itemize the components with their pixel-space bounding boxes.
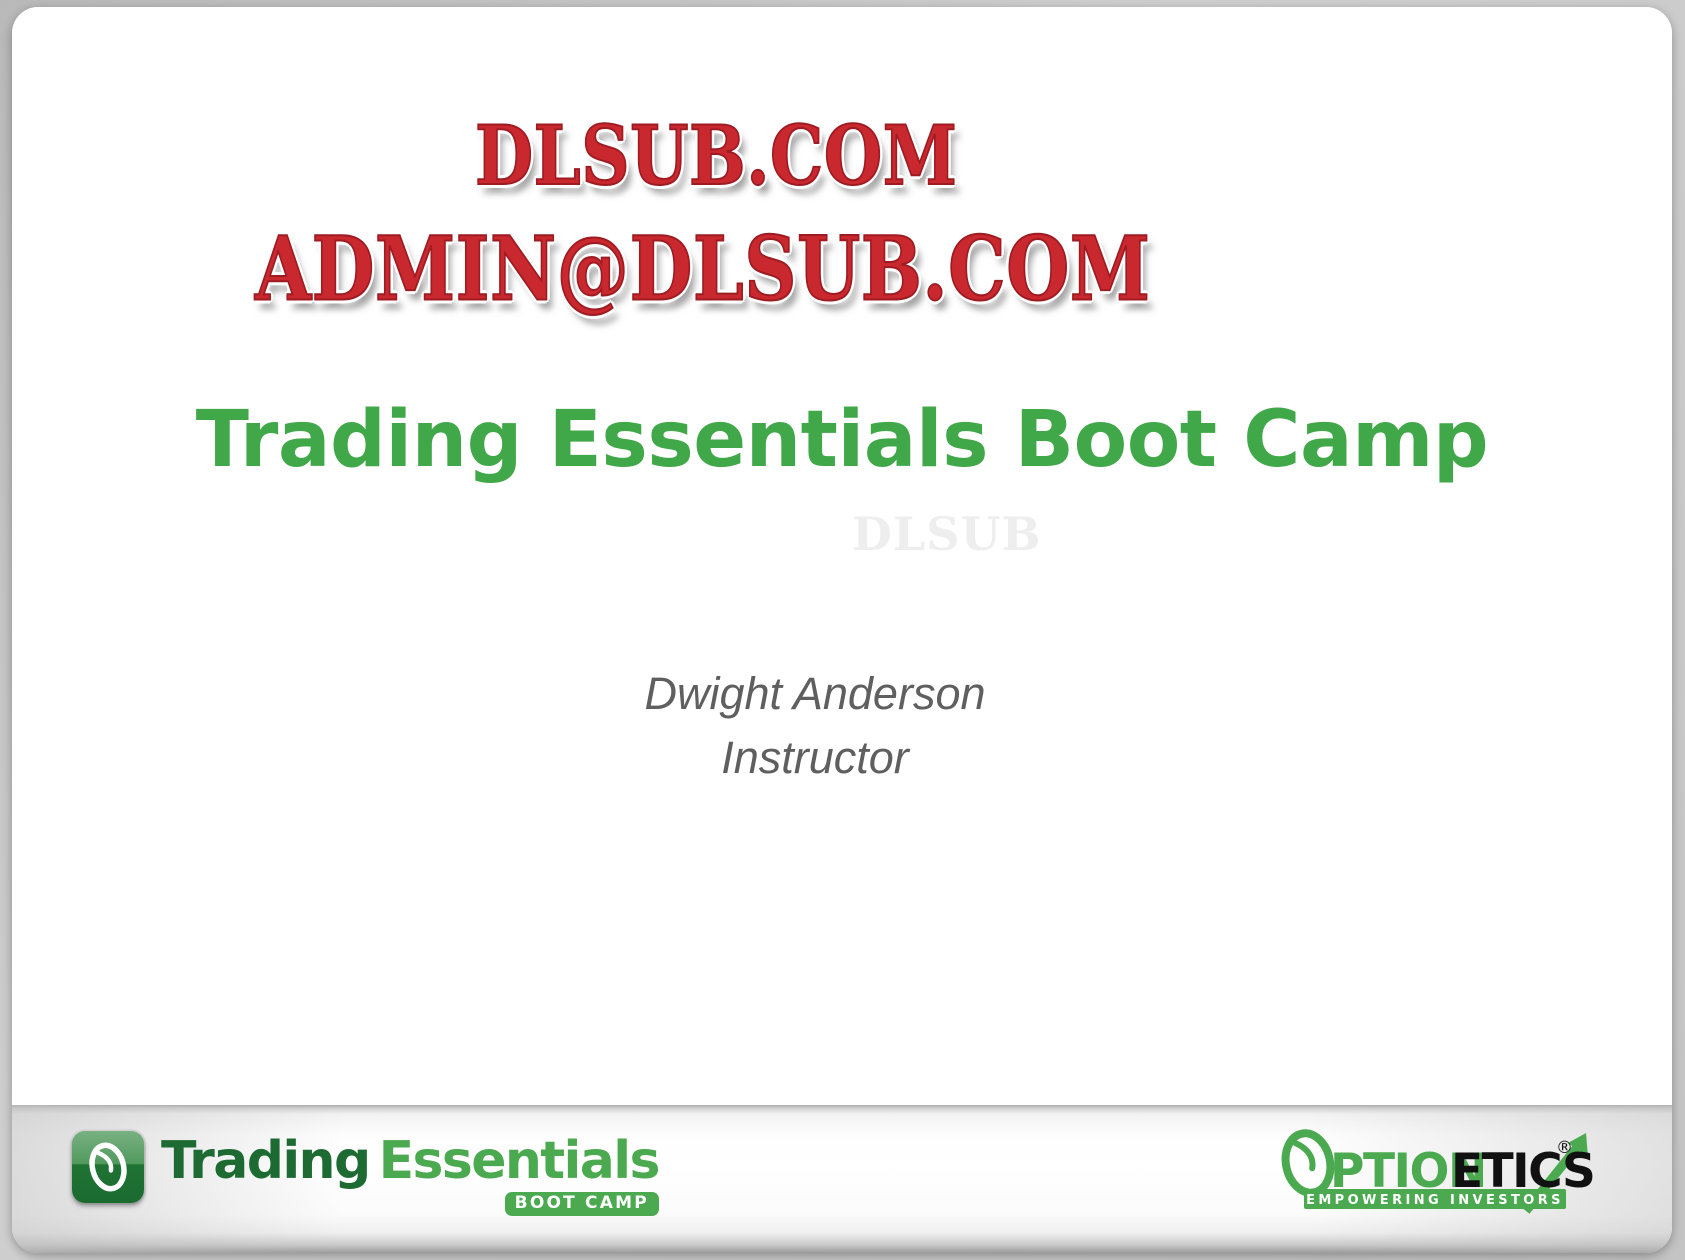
presentation-slide: DLSUB.COM ADMIN@DLSUB.COM DLSUB Trading … <box>12 7 1672 1253</box>
registered-trademark-icon: ® <box>1556 1138 1573 1158</box>
trading-essentials-words: TradingEssentials <box>161 1133 659 1189</box>
presenter-name: Dwight Anderson <box>12 662 1618 726</box>
optionetics-tagline: EMPOWERING INVESTORS <box>1306 1193 1564 1208</box>
watermark-email-text: ADMIN@DLSUB.COM <box>255 216 1151 320</box>
boot-camp-badge: BOOT CAMP <box>505 1192 659 1216</box>
boot-camp-badge-row: BOOT CAMP <box>161 1192 659 1216</box>
logo-word-trading: Trading <box>161 1131 370 1191</box>
logo-word-essentials: Essentials <box>379 1131 659 1191</box>
page-title: Trading Essentials Boot Camp <box>12 394 1672 486</box>
trading-essentials-wordmark: TradingEssentials BOOT CAMP <box>161 1133 659 1216</box>
optionetics-logo: PTION ETICS ® EMPOWERING INVESTORS <box>1274 1127 1604 1225</box>
presenter-block: Dwight Anderson Instructor <box>12 662 1618 790</box>
slide-footer: TradingEssentials BOOT CAMP <box>12 1105 1672 1253</box>
oval-o-mark-icon <box>72 1131 144 1203</box>
watermark-ghost-text: DLSUB <box>852 507 1041 561</box>
slide-canvas: DLSUB.COM ADMIN@DLSUB.COM DLSUB Trading … <box>0 0 1685 1260</box>
watermark-site-text: DLSUB.COM <box>475 107 957 203</box>
trading-essentials-logo: TradingEssentials BOOT CAMP <box>72 1131 659 1216</box>
presenter-role: Instructor <box>12 726 1618 790</box>
